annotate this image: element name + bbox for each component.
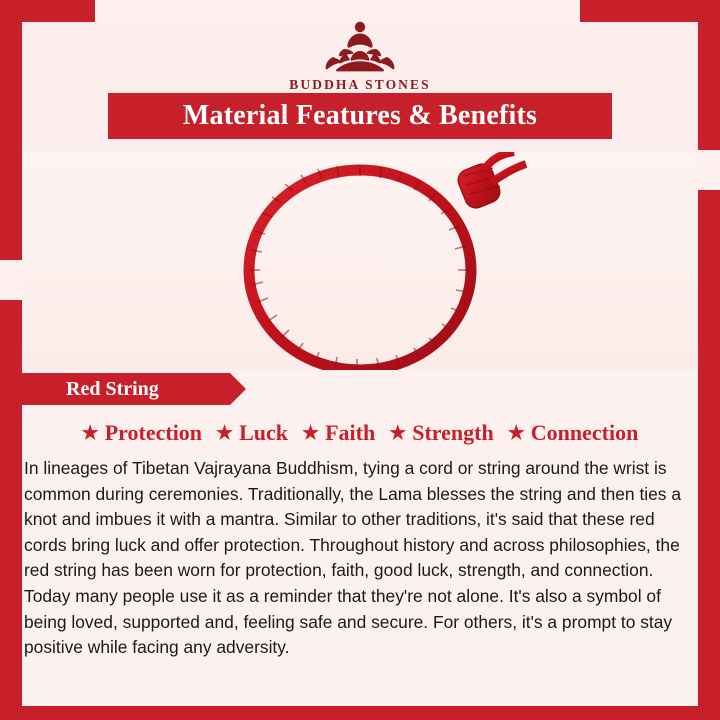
- brand-name: BUDDHA STONES: [289, 77, 430, 93]
- star-icon: ★: [508, 424, 525, 443]
- brand-logo: BUDDHA STONES: [0, 18, 720, 93]
- benefit-keyword-label: Connection: [531, 420, 639, 446]
- frame-left-bar-lower: [0, 300, 22, 720]
- benefit-keyword: ★ Luck: [202, 420, 288, 446]
- red-string-bracelet-illustration: [22, 152, 698, 370]
- material-tag: Red String: [22, 373, 230, 405]
- benefit-keyword: ★ Protection: [82, 420, 202, 446]
- star-icon: ★: [302, 424, 319, 443]
- material-tag-label: Red String: [22, 378, 159, 401]
- benefit-keyword-label: Strength: [412, 420, 494, 446]
- frame-right-bar-lower: [698, 190, 720, 720]
- infographic-page: BUDDHA STONES Material Features & Benefi…: [0, 0, 720, 720]
- benefit-keyword: ★ Strength: [375, 420, 494, 446]
- product-image: [22, 152, 698, 370]
- page-title: Material Features & Benefits: [108, 93, 612, 139]
- lotus-meditation-icon: [302, 18, 418, 74]
- star-icon: ★: [389, 424, 406, 443]
- benefit-keyword: ★ Connection: [494, 420, 639, 446]
- benefit-keyword-label: Luck: [239, 420, 288, 446]
- benefit-keyword-label: Protection: [105, 420, 202, 446]
- star-icon: ★: [82, 424, 99, 443]
- page-title-text: Material Features & Benefits: [183, 100, 537, 132]
- benefit-keyword: ★ Faith: [288, 420, 375, 446]
- benefit-keywords: ★ Protection ★ Luck ★ Faith ★ Strength ★…: [26, 420, 694, 446]
- frame-bottom-bar: [0, 706, 720, 720]
- benefit-keyword-label: Faith: [325, 420, 375, 446]
- product-description: In lineages of Tibetan Vajrayana Buddhis…: [24, 456, 700, 661]
- star-icon: ★: [216, 424, 233, 443]
